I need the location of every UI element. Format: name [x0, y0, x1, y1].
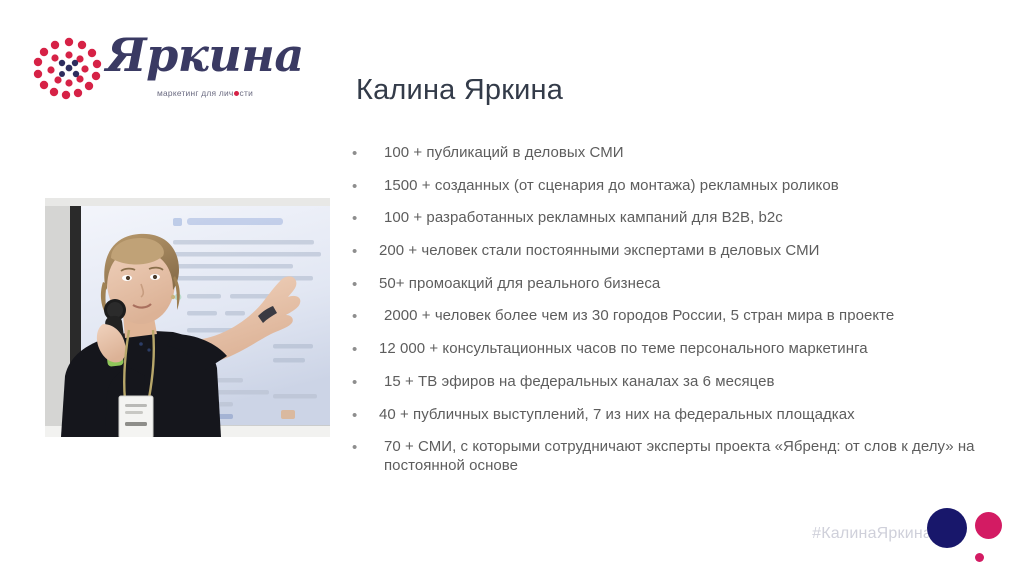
bullet-marker-icon: •	[352, 437, 379, 457]
bullet-marker-icon: •	[352, 372, 379, 392]
bullet-marker-icon: •	[352, 405, 379, 425]
logo-dot-cluster-icon	[28, 34, 110, 108]
list-item: • 100 + разработанных рекламных кампаний…	[352, 208, 992, 228]
list-item: • 2000 + человек более чем из 30 городов…	[352, 306, 992, 326]
list-item-text: 1500 + созданных (от сценария до монтажа…	[379, 176, 992, 195]
list-item-text: 12 000 + консультационных часов по теме …	[379, 339, 992, 358]
list-item-text: 100 + публикаций в деловых СМИ	[379, 143, 992, 162]
bullet-marker-icon: •	[352, 306, 379, 326]
list-item: • 15 + ТВ эфиров на федеральных каналах …	[352, 372, 992, 392]
list-item-text: 70 + СМИ, с которыми сотрудничают экспер…	[379, 437, 992, 475]
logo-tagline-before: маркетинг для лич	[157, 88, 234, 98]
list-item-text: 40 + публичных выступлений, 7 из них на …	[379, 405, 992, 424]
logo-tagline-after: сти	[240, 88, 253, 98]
list-item: • 200 + человек стали постоянными экспер…	[352, 241, 992, 261]
list-item-text: 200 + человек стали постоянными эксперта…	[379, 241, 992, 260]
bullet-marker-icon: •	[352, 176, 379, 196]
decorative-pink-dot-icon	[975, 553, 984, 562]
decorative-navy-circle-icon	[927, 508, 967, 548]
list-item-text: 100 + разработанных рекламных кампаний д…	[379, 208, 992, 227]
slide-canvas: Яркина маркетинг для личсти	[0, 0, 1024, 574]
achievements-list: • 100 + публикаций в деловых СМИ • 1500 …	[352, 143, 992, 488]
page-title: Калина Яркина	[356, 74, 563, 107]
brand-logo: Яркина маркетинг для личсти	[28, 30, 253, 112]
bullet-marker-icon: •	[352, 208, 379, 228]
list-item: • 1500 + созданных (от сценария до монта…	[352, 176, 992, 196]
bullet-marker-icon: •	[352, 143, 379, 163]
list-item-text: 2000 + человек более чем из 30 городов Р…	[379, 306, 992, 325]
speaker-photo	[45, 198, 330, 437]
list-item: • 40 + публичных выступлений, 7 из них н…	[352, 405, 992, 425]
list-item-text: 15 + ТВ эфиров на федеральных каналах за…	[379, 372, 992, 391]
list-item: • 50+ промоакций для реального бизнеса	[352, 274, 992, 294]
list-item-text: 50+ промоакций для реального бизнеса	[379, 274, 992, 293]
bullet-marker-icon: •	[352, 339, 379, 359]
bullet-marker-icon: •	[352, 241, 379, 261]
bullet-marker-icon: •	[352, 274, 379, 294]
logo-tagline-dot-icon	[234, 91, 239, 96]
logo-tagline: маркетинг для личсти	[110, 88, 253, 98]
list-item: • 100 + публикаций в деловых СМИ	[352, 143, 992, 163]
logo-wordmark: Яркина	[106, 28, 304, 82]
hashtag-label: #КалинаЯркина	[812, 525, 932, 543]
decorative-pink-circle-icon	[975, 512, 1002, 539]
list-item: • 12 000 + консультационных часов по тем…	[352, 339, 992, 359]
list-item: • 70 + СМИ, с которыми сотрудничают эксп…	[352, 437, 992, 475]
